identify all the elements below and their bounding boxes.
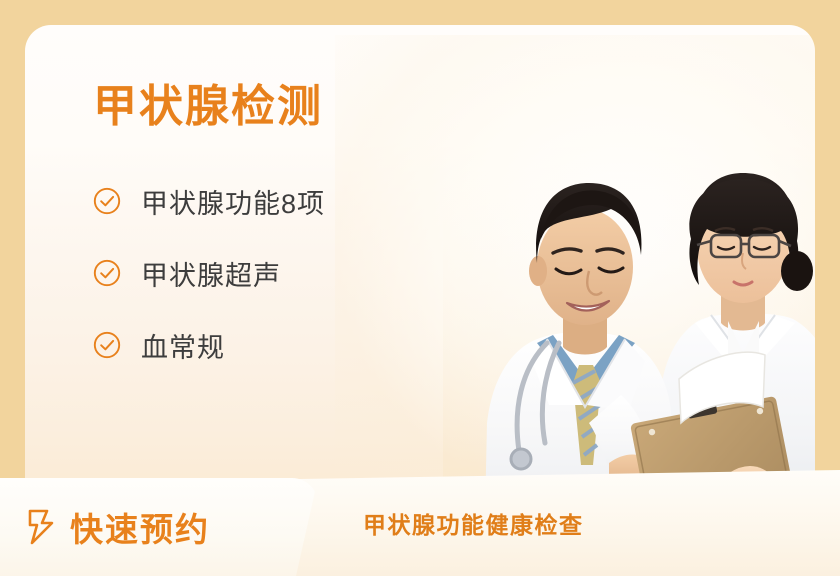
page-title: 甲状腺检测 [93, 83, 473, 131]
check-circle-icon [93, 331, 121, 359]
card-content: 甲状腺检测 甲状腺功能8项 甲状腺超声 [93, 83, 473, 381]
lightning-bolt-icon [26, 509, 56, 545]
check-circle-icon [93, 259, 121, 287]
list-item: 甲状腺功能8项 [93, 165, 473, 237]
package-caption: 甲状腺功能健康检查 [363, 470, 584, 576]
bottom-bar: 甲状腺功能健康检查 快速预约 [0, 470, 840, 576]
check-circle-icon [93, 187, 121, 215]
quick-booking-label: 快速预约 [70, 503, 210, 551]
quick-booking-button[interactable]: 快速预约 [0, 478, 318, 576]
feature-label: 甲状腺功能8项 [141, 182, 325, 221]
feature-label: 甲状腺超声 [141, 254, 281, 293]
feature-label: 血常规 [141, 326, 225, 365]
list-item: 血常规 [93, 309, 473, 381]
promo-banner: 甲状腺检测 甲状腺功能8项 甲状腺超声 [0, 0, 840, 576]
doctors-photo [443, 143, 815, 515]
list-item: 甲状腺超声 [93, 237, 473, 309]
feature-list: 甲状腺功能8项 甲状腺超声 血常规 [93, 165, 473, 381]
